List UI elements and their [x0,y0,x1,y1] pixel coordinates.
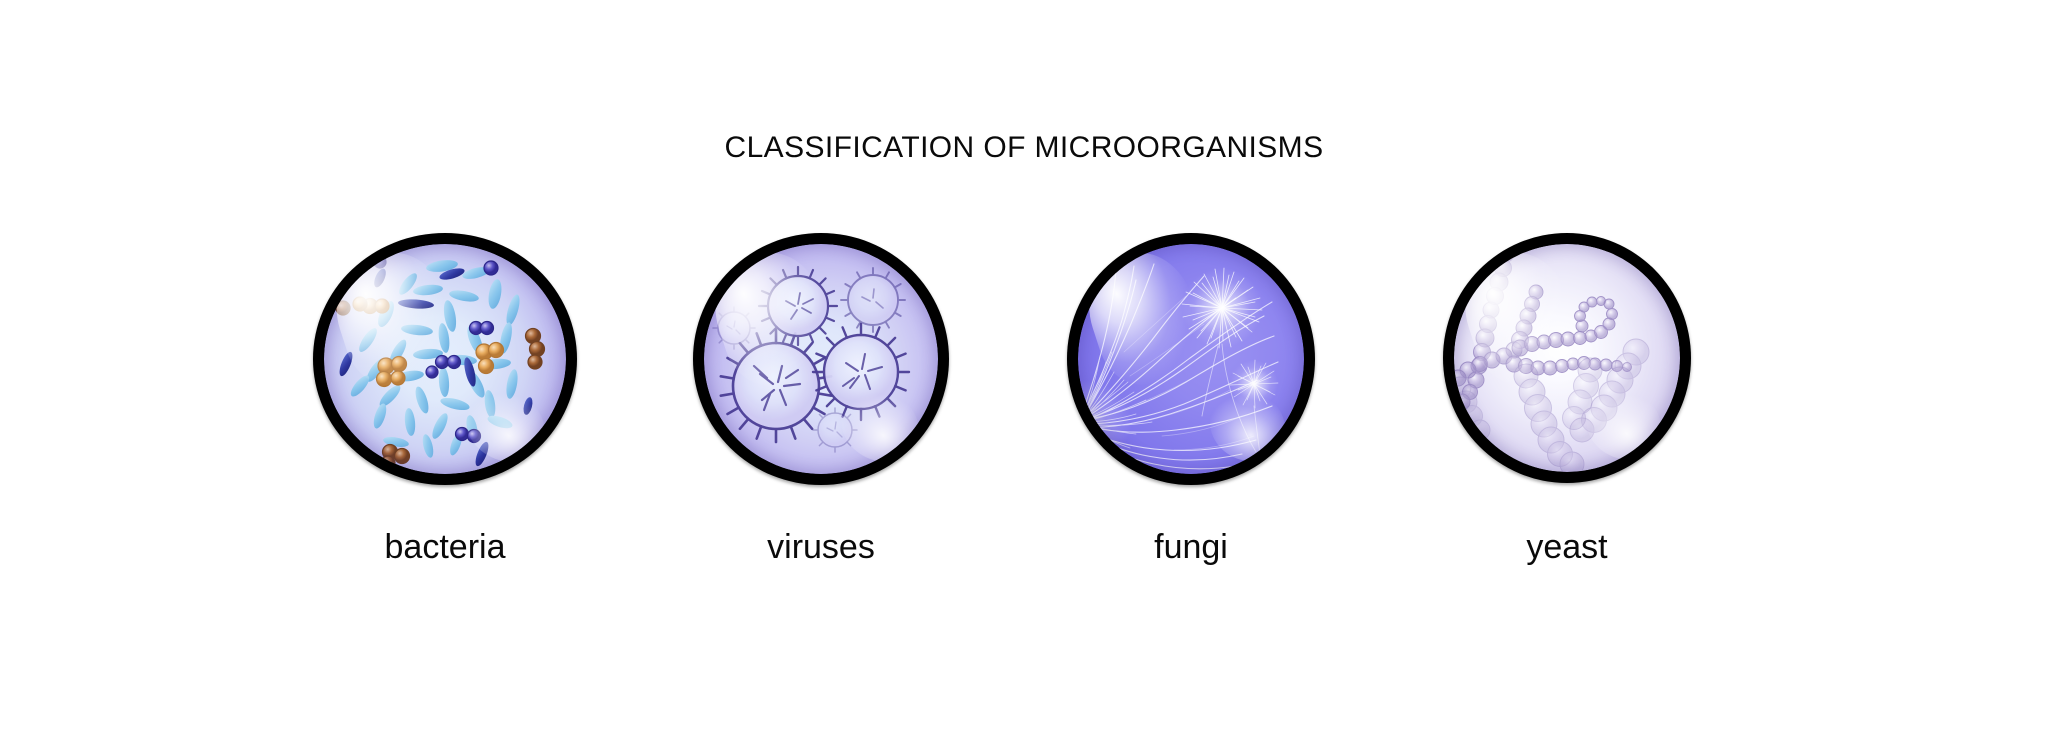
specimen-label-fungi: fungi [1058,528,1324,567]
specimen-yeast[interactable]: yeast [1434,233,1700,483]
culture-medium-fungi [1078,244,1304,474]
petri-dish-bacteria-icon [313,233,577,485]
specimen-viruses[interactable]: viruses [688,233,954,485]
culture-medium-bacteria [324,244,566,474]
specimen-fungi[interactable]: fungi [1058,233,1324,485]
petri-dish-viruses-icon [693,233,949,485]
petri-dish-fungi-icon [1067,233,1315,485]
specimen-label-yeast: yeast [1434,528,1700,567]
culture-medium-viruses [704,244,938,474]
dish-inner-fungi [1078,244,1304,474]
infographic-canvas: CLASSIFICATION OF MICROORGANISMS [0,0,2048,742]
specimen-label-viruses: viruses [688,528,954,567]
dish-inner-viruses [704,244,938,474]
specimen-bacteria[interactable]: bacteria [312,233,578,485]
dish-inner-yeast [1454,244,1680,472]
dish-inner-bacteria [324,244,566,474]
petri-dish-yeast-icon [1443,233,1691,483]
culture-medium-yeast [1454,244,1680,472]
specimen-row: bacteria [0,0,2048,742]
specimen-label-bacteria: bacteria [312,528,578,567]
